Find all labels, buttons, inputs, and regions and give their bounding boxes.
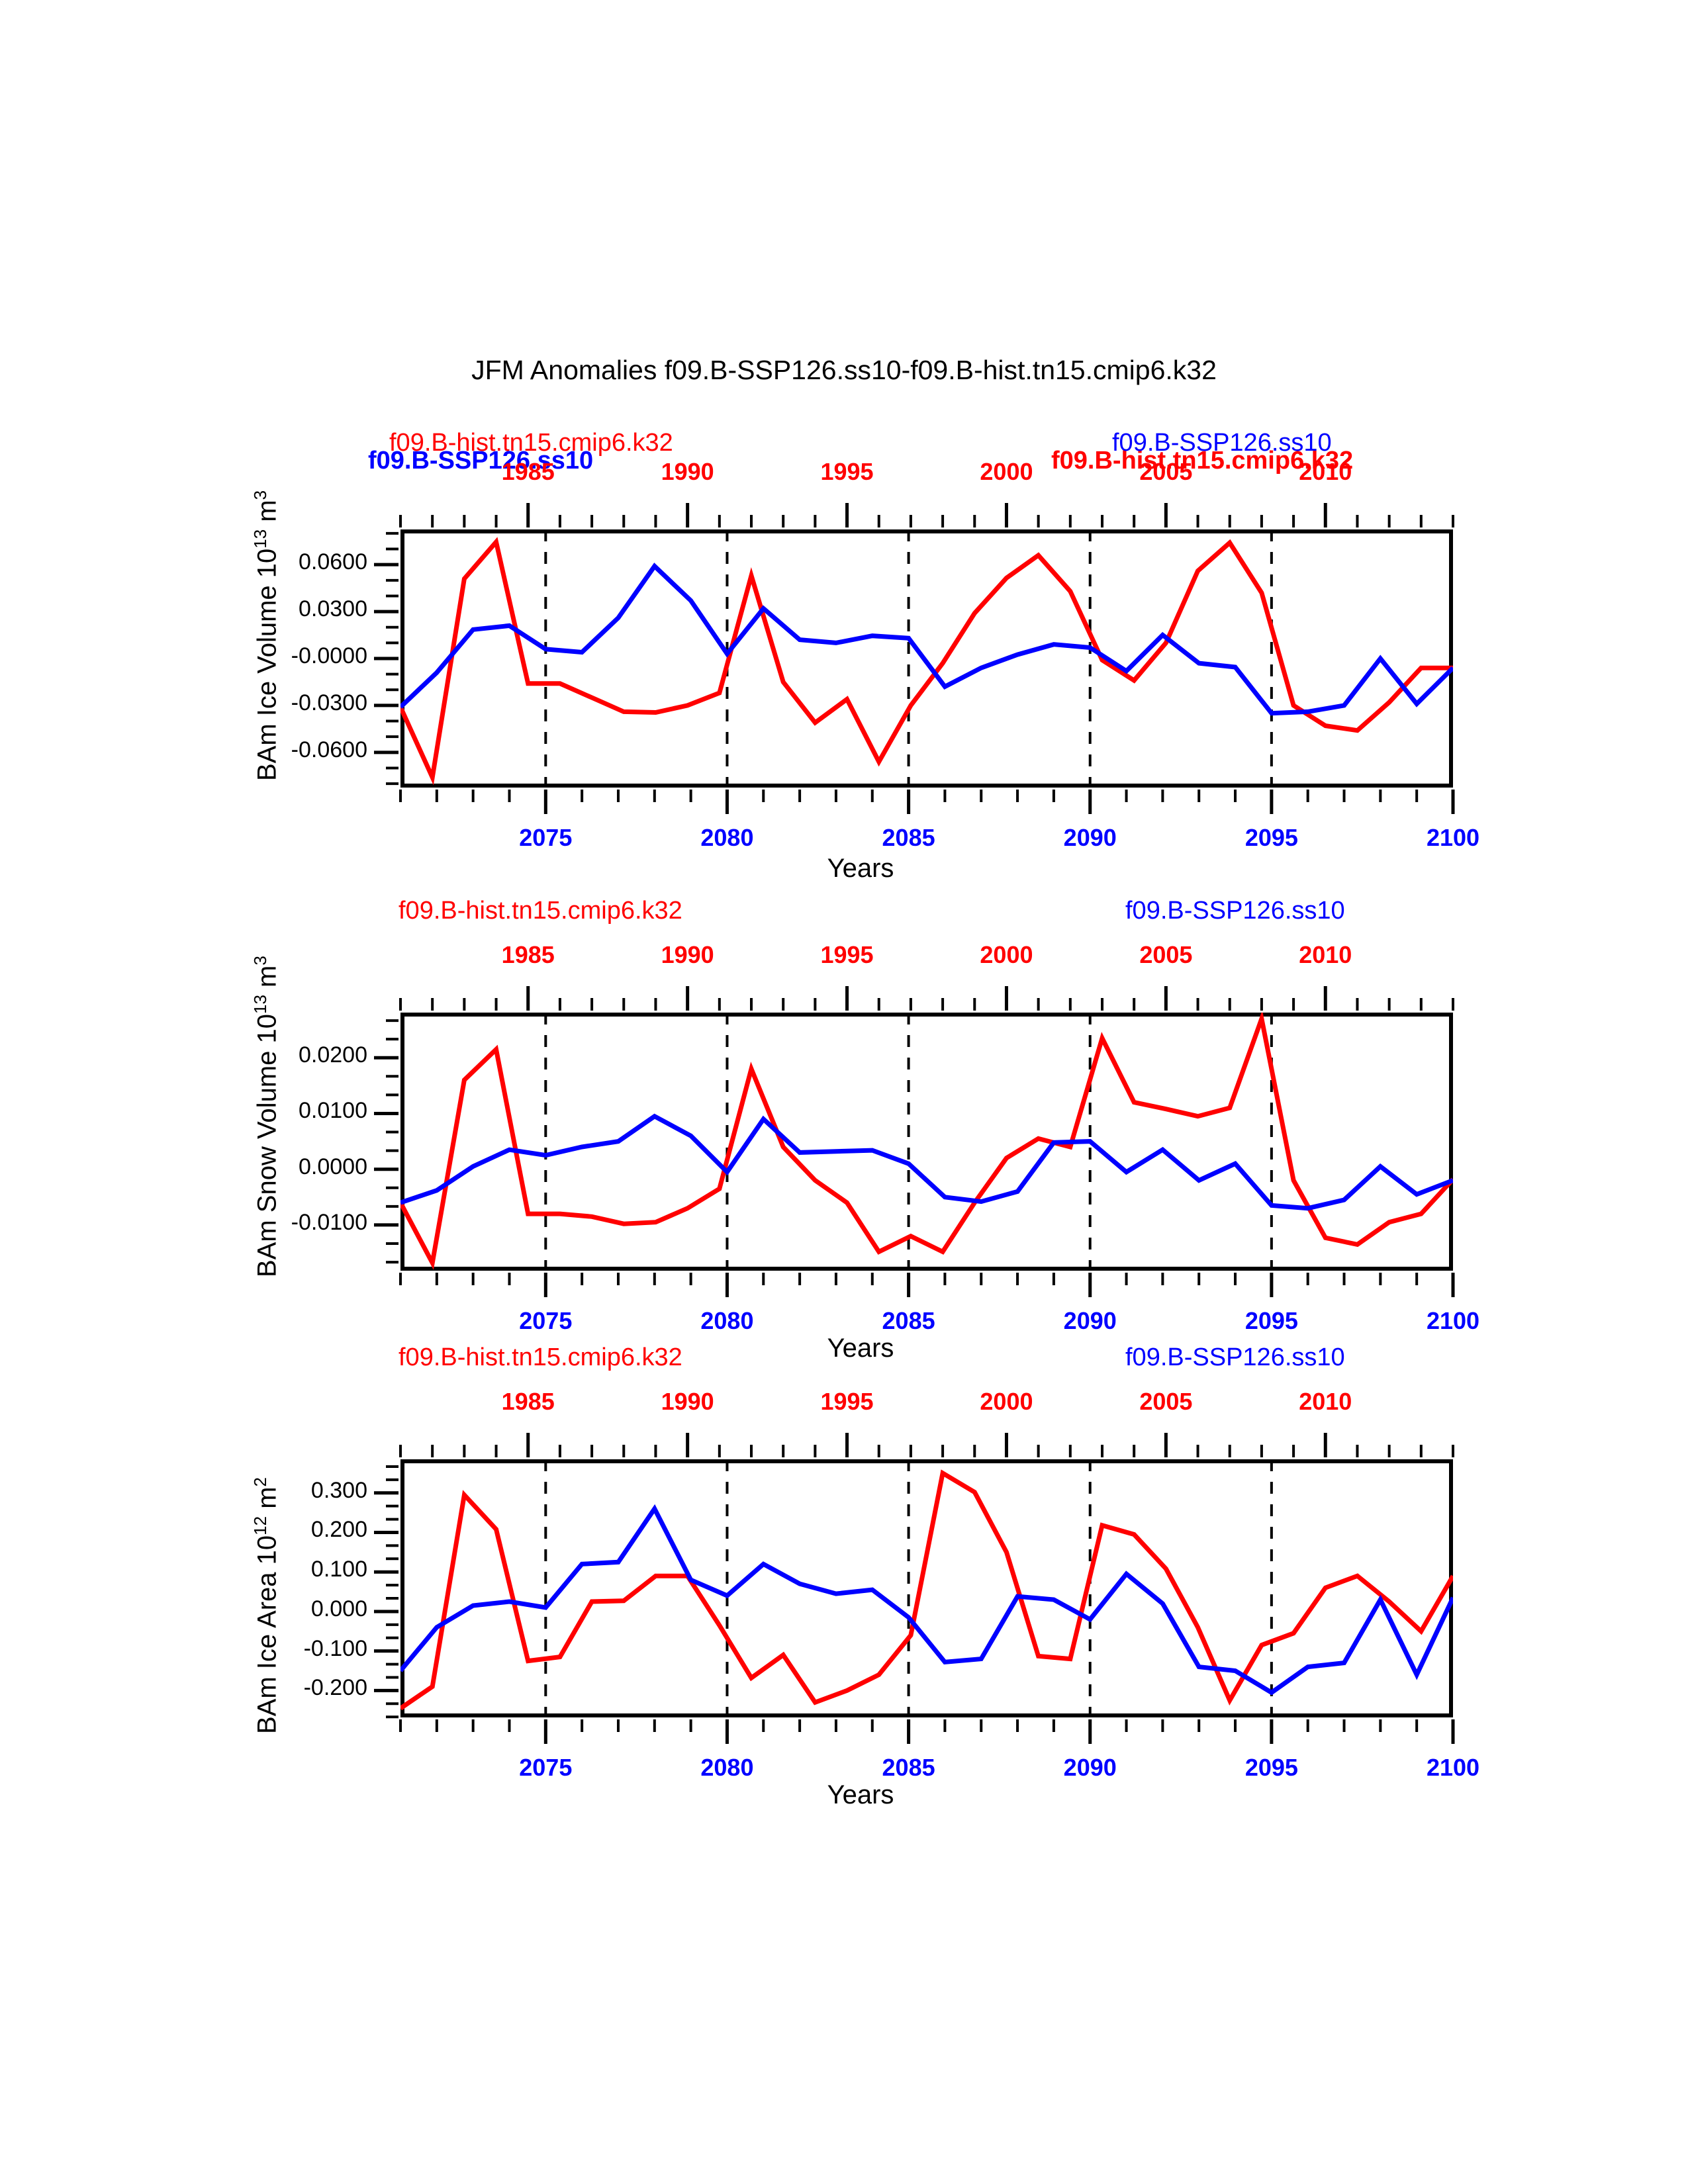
panel3-top-year-label: 2000 <box>960 1388 1053 1416</box>
panel3-ytick-label: 0.200 <box>209 1517 367 1543</box>
panel3-bottom-year-label: 2085 <box>863 1754 955 1782</box>
panel3-top-year-label: 1990 <box>641 1388 734 1416</box>
panel3-top-year-label: 1995 <box>801 1388 894 1416</box>
panel3-ytick-label: -0.200 <box>209 1675 367 1701</box>
panel3-ytick-label: -0.100 <box>209 1636 367 1662</box>
panel-ice-area: BAm Ice Area 1012 m2 f09.B-hist.tn15.cmi… <box>0 0 1688 1840</box>
panel3-bottom-year-label: 2075 <box>499 1754 592 1782</box>
panel3-bottom-year-label: 2095 <box>1225 1754 1318 1782</box>
panel3-ytick-label: 0.100 <box>209 1557 367 1582</box>
panel3-bottom-year-label: 2100 <box>1407 1754 1499 1782</box>
figure-canvas: JFM Anomalies f09.B-SSP126.ss10-f09.B-hi… <box>0 0 1688 2184</box>
panel3-bottom-year-label: 2080 <box>680 1754 773 1782</box>
panel3-top-year-label: 1985 <box>482 1388 575 1416</box>
panel3-x-axis-title: Years <box>794 1780 927 1810</box>
panel3-bottom-year-label: 2090 <box>1044 1754 1137 1782</box>
panel3-top-year-label: 2005 <box>1119 1388 1212 1416</box>
panel3-ytick-label: 0.300 <box>209 1478 367 1504</box>
panel3-top-year-label: 2010 <box>1279 1388 1372 1416</box>
panel3-ytick-label: 0.000 <box>209 1596 367 1622</box>
